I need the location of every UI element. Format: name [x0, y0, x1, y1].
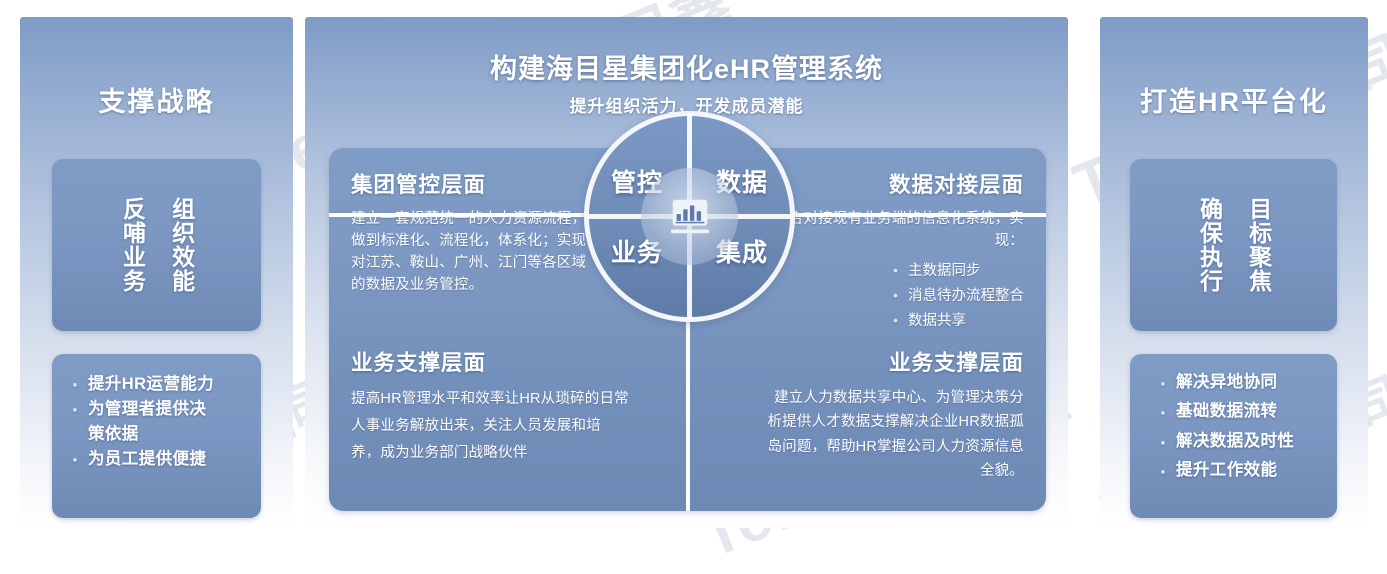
right-bullet-item: 解决数据及时性 [1154, 427, 1327, 456]
center-circle[interactable]: 管控 数据 业务 集成 [584, 111, 795, 322]
quadrant-body-group-control: 建立一套规范统一的人力资源流程，做到标准化、流程化，体系化；实现对江苏、鞍山、广… [351, 208, 597, 296]
main-title: 构建海目星集团化eHR管理系统 [305, 47, 1068, 86]
right-bullet-card[interactable]: 解决异地协同基础数据流转解决数据及时性提升工作效能 [1130, 354, 1337, 518]
right-bullet-list: 解决异地协同基础数据流转解决数据及时性提升工作效能 [1154, 368, 1327, 485]
right-vertical-card[interactable]: 目标聚焦 确保执行 [1130, 159, 1337, 331]
quadrant-sublist-item: 主数据同步 [889, 259, 1024, 284]
center-panel: 构建海目星集团化eHR管理系统 提升组织活力，开发成员潜能 集团管控层面 建立一… [305, 17, 1068, 528]
left-bullet-item: 为员工提供便捷 [66, 447, 251, 472]
left-bullet-list: 提升HR运营能力为管理者提供决策依据为员工提供便捷 [66, 372, 251, 472]
left-panel: 支撑战略 组织效能 反哺业务 提升HR运营能力为管理者提供决策依据为员工提供便捷 [20, 17, 293, 528]
circle-hub [641, 168, 738, 265]
right-vertical-text-group: 目标聚焦 确保执行 [1130, 159, 1337, 331]
quadrant-body-business-support-left: 提高HR管理水平和效率让HR从琐碎的日常人事业务解放出来，关注人员发展和培养，成… [351, 386, 629, 466]
right-vertical-column-right: 目标聚焦 [1245, 197, 1272, 293]
right-panel-title: 打造HR平台化 [1100, 80, 1368, 119]
right-panel: 打造HR平台化 目标聚焦 确保执行 解决异地协同基础数据流转解决数据及时性提升工… [1100, 17, 1368, 528]
left-vertical-column-right: 组织效能 [168, 197, 195, 293]
quadrant-sublist-item: 消息待办流程整合 [889, 284, 1024, 309]
right-bullet-item: 解决异地协同 [1154, 368, 1327, 397]
bar-chart-monitor-icon [667, 194, 713, 240]
left-panel-title: 支撑战略 [20, 80, 293, 119]
left-bullet-item: 提升HR运营能力 [66, 372, 251, 397]
quadrant-business-support-left[interactable]: 业务支撑层面 提高HR管理水平和效率让HR从琐碎的日常人事业务解放出来，关注人员… [329, 332, 687, 511]
right-bullet-item: 基础数据流转 [1154, 397, 1327, 426]
left-bullet-card[interactable]: 提升HR运营能力为管理者提供决策依据为员工提供便捷 [52, 354, 261, 518]
quadrant-business-support-right[interactable]: 业务支撑层面 建立人力数据共享中心、为管理决策分析提供人才数据支撑解决企业HR数… [688, 332, 1046, 511]
quadrant-body-business-support-right: 建立人力数据共享中心、为管理决策分析提供人才数据支撑解决企业HR数据孤岛问题，帮… [766, 386, 1024, 483]
left-bullet-item: 策依据 [66, 422, 251, 447]
left-vertical-text-group: 组织效能 反哺业务 [52, 159, 261, 331]
quadrant-title-business-support-right: 业务支撑层面 [706, 346, 1024, 377]
quadrant-sublist-item: 数据共享 [889, 309, 1024, 334]
left-vertical-card[interactable]: 组织效能 反哺业务 [52, 159, 261, 331]
quadrant-title-business-support-left: 业务支撑层面 [351, 346, 669, 377]
right-vertical-column-left: 确保执行 [1195, 197, 1222, 293]
slide-canvas: Tongxine同鑫 Tongxine同鑫 Tongxine同鑫 Tongxin… [0, 0, 1387, 545]
right-bullet-item: 提升工作效能 [1154, 456, 1327, 485]
left-bullet-item: 为管理者提供决 [66, 397, 251, 422]
quadrant-sublist-data-integration: 主数据同步消息待办流程整合数据共享 [889, 259, 1024, 334]
left-vertical-column-left: 反哺业务 [118, 197, 145, 293]
